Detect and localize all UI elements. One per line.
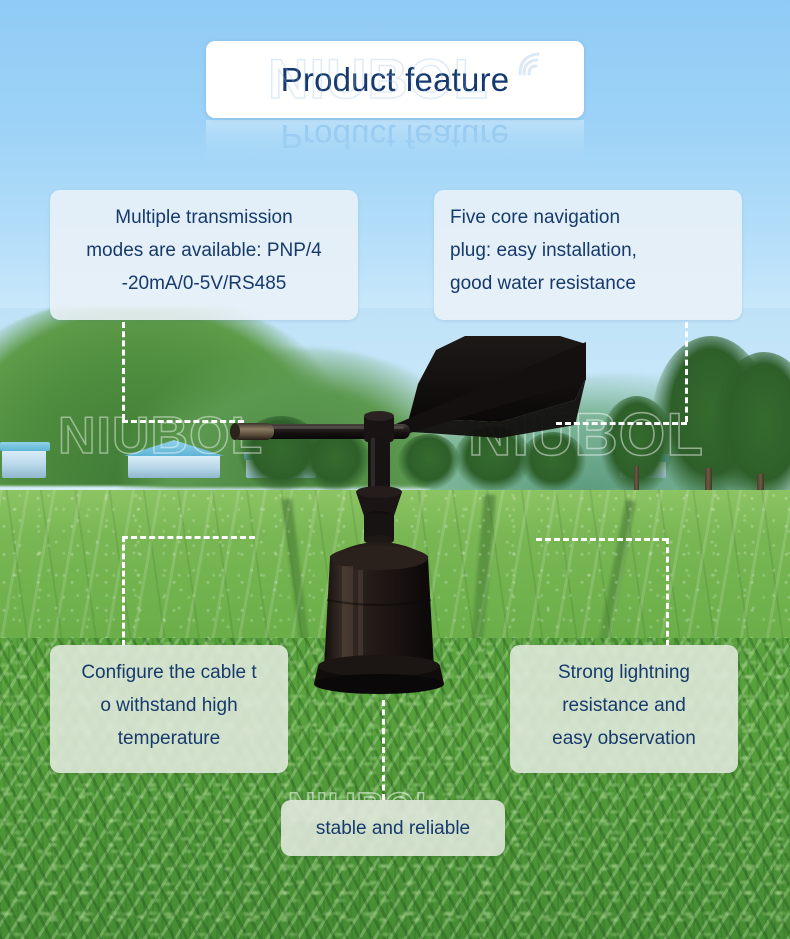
tree bbox=[398, 434, 460, 490]
signal-arc-icon bbox=[510, 40, 558, 80]
building bbox=[2, 448, 46, 478]
feature-line: Multiple transmission bbox=[66, 201, 342, 234]
tree bbox=[300, 430, 370, 492]
connector-plug-vertical bbox=[685, 322, 688, 422]
connector-transmission-horizontal bbox=[122, 420, 244, 423]
feature-line: Configure the cable t bbox=[66, 656, 272, 689]
feature-box-cable: Configure the cable t o withstand high t… bbox=[50, 645, 288, 773]
feature-line: stable and reliable bbox=[316, 812, 470, 845]
feature-line: temperature bbox=[66, 722, 272, 755]
building-roof bbox=[0, 442, 50, 451]
brand-watermark-title: NIUBOL bbox=[268, 46, 489, 111]
feature-line: resistance and bbox=[526, 689, 722, 722]
feature-line: good water resistance bbox=[450, 267, 726, 300]
feature-line: easy observation bbox=[526, 722, 722, 755]
feature-line: Strong lightning bbox=[526, 656, 722, 689]
connector-plug-horizontal bbox=[556, 422, 687, 425]
feature-line: -20mA/0-5V/RS485 bbox=[66, 267, 342, 300]
feature-box-transmission: Multiple transmission modes are availabl… bbox=[50, 190, 358, 320]
connector-transmission-vertical bbox=[122, 322, 125, 420]
feature-line: o withstand high bbox=[66, 689, 272, 722]
feature-box-plug: Five core navigation plug: easy installa… bbox=[434, 190, 742, 320]
page-title-reflection-text: Product feature bbox=[281, 120, 510, 159]
product-feature-infographic: NIUBOL NIUBOL NIUBOL NIUBOL Product feat… bbox=[0, 0, 790, 939]
feature-box-lightning: Strong lightning resistance and easy obs… bbox=[510, 645, 738, 773]
connector-cable-vertical bbox=[122, 536, 125, 646]
brand-watermark-left: NIUBOL bbox=[58, 406, 263, 466]
feature-line: modes are available: PNP/4 bbox=[66, 234, 342, 267]
connector-lightning-horizontal bbox=[536, 538, 668, 541]
feature-line: plug: easy installation, bbox=[450, 234, 726, 267]
page-title-reflection: Product feature bbox=[206, 120, 584, 182]
connector-stable-vertical bbox=[382, 700, 385, 800]
feature-line: Five core navigation bbox=[450, 201, 726, 234]
brand-watermark-middle: NIUBOL bbox=[468, 400, 704, 469]
connector-cable-horizontal bbox=[122, 536, 255, 539]
feature-box-stable: stable and reliable bbox=[281, 800, 505, 856]
connector-lightning-vertical bbox=[666, 538, 669, 646]
